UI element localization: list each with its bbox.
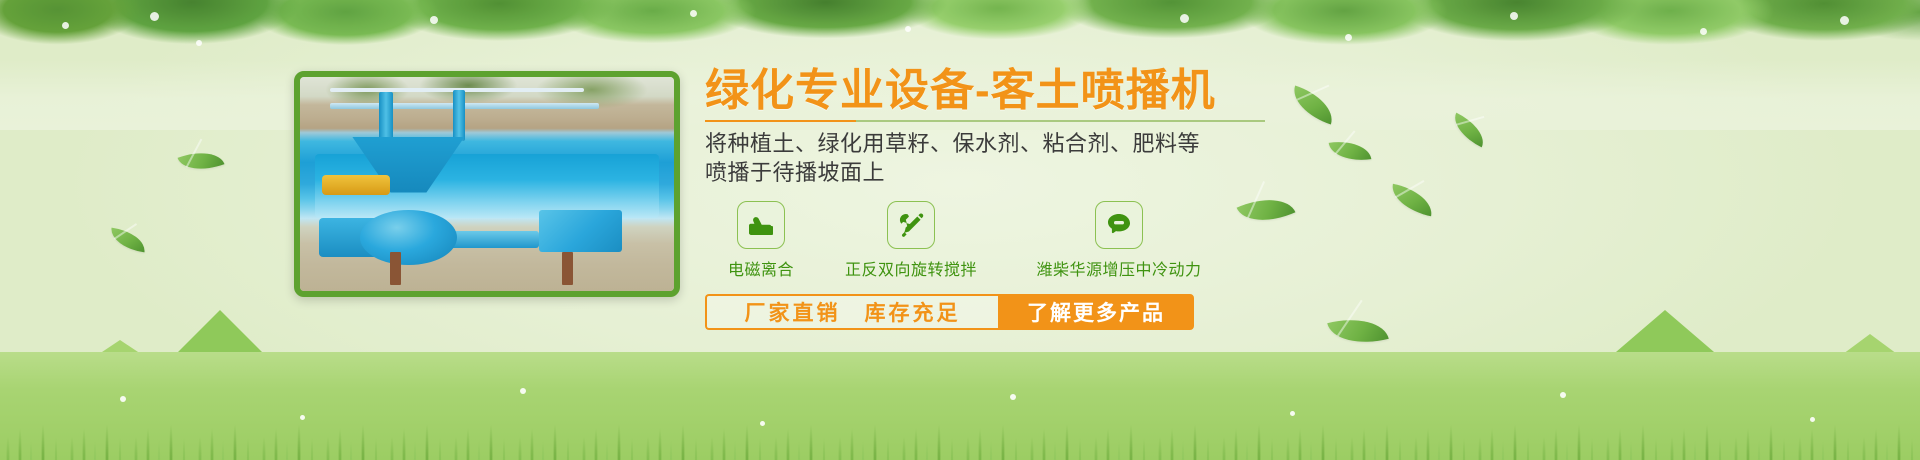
blossom-icon [1700, 28, 1707, 35]
feature-label-engine: 潍柴华源增压中冷动力 [1005, 256, 1233, 280]
blossom-icon [430, 16, 438, 24]
banner-content: 绿化专业设备-客土喷播机 将种植土、绿化用草籽、保水剂、粘合剂、肥料等 喷播于待… [705, 68, 1325, 330]
machine-pump [360, 210, 457, 266]
title-divider [705, 120, 1265, 122]
flower-icon [120, 396, 126, 402]
flower-icon [1810, 417, 1815, 422]
blossom-icon [1840, 16, 1849, 25]
engine-power-icon [1095, 201, 1143, 249]
cta-slogan: 厂家直销 库存充足 [705, 294, 998, 330]
blossom-icon [1510, 12, 1518, 20]
flower-icon [760, 421, 765, 426]
blossom-icon [1180, 14, 1189, 23]
leaf-icon [1329, 137, 1372, 164]
electromagnetic-clutch-icon [737, 201, 785, 249]
cta-bar: 厂家直销 库存充足 了解更多产品 [705, 294, 1194, 330]
flower-icon [520, 388, 526, 394]
blossom-icon [690, 10, 697, 17]
flower-icon [1010, 394, 1016, 400]
blossom-icon [196, 40, 202, 46]
wrench-screwdriver-icon [887, 201, 935, 249]
leaf-icon [1388, 184, 1436, 217]
blossom-icon [905, 26, 911, 32]
leaf-icon [178, 143, 225, 178]
page-title: 绿化专业设备-客土喷播机 [705, 68, 1325, 114]
feature-label-mixing: 正反双向旋转搅拌 [817, 256, 1005, 280]
machine-control-box [539, 210, 621, 253]
blossom-icon [62, 22, 69, 29]
promo-banner: 绿化专业设备-客土喷播机 将种植土、绿化用草籽、保水剂、粘合剂、肥料等 喷播于待… [0, 0, 1920, 460]
machine-leg [390, 252, 401, 284]
flower-icon [1560, 392, 1566, 398]
learn-more-button[interactable]: 了解更多产品 [998, 294, 1194, 330]
feature-item-engine: 潍柴华源增压中冷动力 [1005, 201, 1233, 280]
feature-item-clutch: 电磁离合 [705, 201, 817, 280]
subtitle-line-2: 喷播于待播坡面上 [705, 158, 1325, 187]
machine-yellow-part [322, 175, 389, 194]
blossom-icon [150, 12, 159, 21]
feature-item-mixing: 正反双向旋转搅拌 [817, 201, 1005, 280]
feature-list: 电磁离合 正反双向旋转搅拌 [705, 201, 1325, 280]
feature-label-clutch: 电磁离合 [705, 256, 817, 280]
blossom-icon [1345, 34, 1352, 41]
product-photo [294, 71, 680, 297]
machine-leg [562, 252, 573, 284]
subtitle: 将种植土、绿化用草籽、保水剂、粘合剂、肥料等 喷播于待播坡面上 [705, 129, 1325, 187]
flower-icon [1290, 411, 1295, 416]
product-photo-image [300, 77, 674, 291]
grass-blades [0, 340, 1920, 460]
flower-icon [300, 415, 305, 420]
subtitle-line-1: 将种植土、绿化用草籽、保水剂、粘合剂、肥料等 [705, 129, 1325, 158]
machine-pipe [453, 90, 464, 141]
